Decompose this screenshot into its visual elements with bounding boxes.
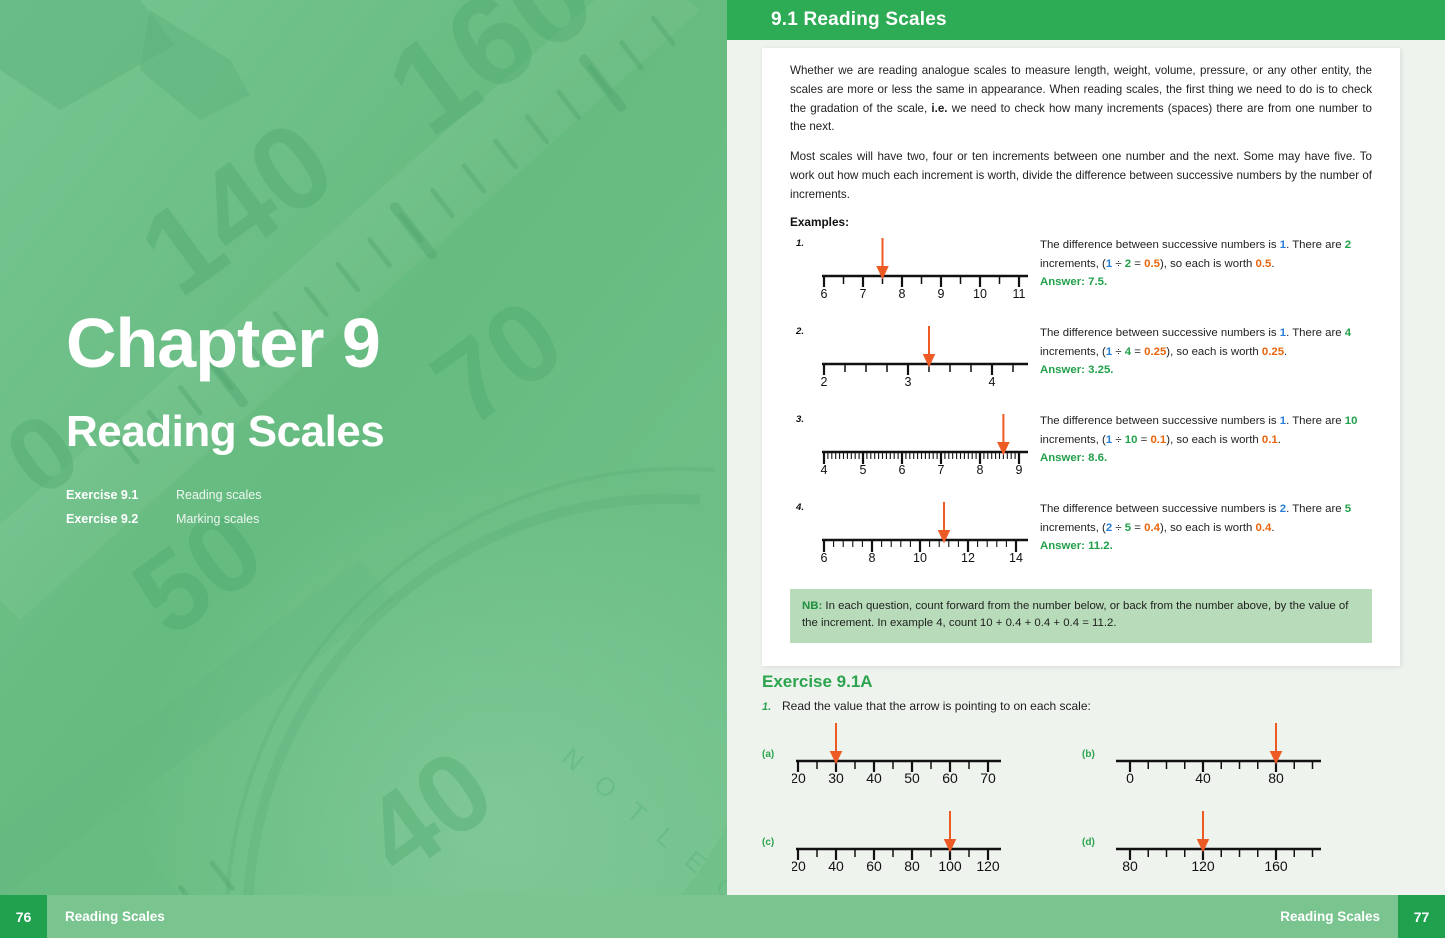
svg-text:80: 80 (904, 858, 920, 871)
page-title: Chapter 9 (66, 308, 380, 378)
svg-text:12: 12 (961, 551, 975, 562)
svg-text:7: 7 (860, 287, 867, 298)
svg-text:7: 7 (938, 463, 945, 474)
svg-text:5: 5 (860, 463, 867, 474)
ex4-eq-div: ÷ (1112, 522, 1125, 534)
cover-text-block: Chapter 9 Reading Scales Exercise 9.1 Re… (66, 0, 686, 938)
ex4-eq-equals: = (1131, 522, 1144, 534)
chapter-subtitle: Reading Scales (66, 410, 384, 454)
exercise-description: Reading scales (176, 486, 261, 505)
example-number: 2. (796, 326, 804, 337)
example-1: 1. (790, 236, 1372, 324)
exercise-section: Exercise 9.1A 1. Read the value that the… (762, 672, 1412, 881)
example-1-scale-diagram: 67 89 1011 (818, 236, 1032, 303)
footer-left-title: Reading Scales (65, 909, 165, 924)
svg-text:120: 120 (976, 858, 1000, 871)
ex2-text-1: The difference between successive number… (1040, 327, 1280, 339)
svg-text:11: 11 (1013, 287, 1026, 298)
list-item: Exercise 9.1 Reading scales (66, 486, 486, 505)
list-item: Exercise 9.2 Marking scales (66, 510, 486, 529)
chapter-exercise-list: Exercise 9.1 Reading scales Exercise 9.2… (66, 486, 486, 534)
example-4: 4. 68 1012 14 (790, 500, 1372, 588)
example-2: 2. (790, 324, 1372, 412)
example-number: 1. (796, 238, 804, 249)
svg-text:20: 20 (792, 858, 806, 871)
ex3-text-4: ), so each is worth (1166, 434, 1262, 446)
intro-paragraph-2: Most scales will have two, four or ten i… (790, 148, 1372, 204)
footer-right: Reading Scales 77 (727, 895, 1445, 938)
exercise-description: Marking scales (176, 510, 259, 529)
ex3-eq-div: ÷ (1112, 434, 1125, 446)
ex1-text-1: The difference between successive number… (1040, 239, 1280, 251)
ex4-text-3: increments, ( (1040, 522, 1106, 534)
exercise-question-1: 1. Read the value that the arrow is poin… (762, 699, 1412, 713)
ex3-eq-equals: = (1137, 434, 1150, 446)
ex3-text-2: . There are (1286, 415, 1345, 427)
ex2-text-4: ), so each is worth (1166, 346, 1262, 358)
ex2-increments: 4 (1345, 327, 1351, 339)
book-spread: 160 140 70 50 40 0 N O T L E G (0, 0, 1445, 938)
examples-label: Examples: (790, 215, 1372, 229)
svg-text:14: 14 (1009, 551, 1023, 562)
question-number: 1. (762, 701, 782, 713)
example-2-scale-diagram: 234 (818, 324, 1032, 391)
exercise-item-a-label: (a) (762, 749, 774, 760)
ex4-text-5: . (1271, 522, 1274, 534)
ex4-text-2: . There are (1286, 503, 1345, 515)
svg-text:4: 4 (821, 463, 828, 474)
ex3-worth: 0.1 (1262, 434, 1278, 446)
nb-label: NB: (802, 600, 822, 612)
chapter-cover-page: 160 140 70 50 40 0 N O T L E G (0, 0, 727, 938)
exercise-code: Exercise 9.2 (66, 510, 176, 529)
example-2-explanation: The difference between successive number… (1040, 324, 1406, 379)
ex1-text-4: ), so each is worth (1160, 258, 1256, 270)
ex1-eq-div: ÷ (1112, 258, 1125, 270)
note-box: NB: In each question, count forward from… (790, 589, 1372, 643)
exercise-d-scale-diagram: 80120160 (1112, 809, 1327, 876)
ex2-answer: Answer: 3.25. (1040, 361, 1406, 379)
intro-paragraph-1: Whether we are reading analogue scales t… (790, 62, 1372, 137)
ex2-text-3: increments, ( (1040, 346, 1106, 358)
footer-right-title: Reading Scales (1280, 909, 1380, 924)
exercise-scale-grid: (a) (762, 721, 1412, 881)
question-text: Read the value that the arrow is pointin… (782, 699, 1091, 713)
ex2-text-5: . (1284, 346, 1287, 358)
example-3-explanation: The difference between successive number… (1040, 412, 1406, 467)
svg-text:10: 10 (973, 287, 987, 298)
ex2-text-2: . There are (1286, 327, 1345, 339)
example-number: 3. (796, 414, 804, 425)
ex1-eq-result: 0.5 (1144, 258, 1160, 270)
example-4-explanation: The difference between successive number… (1040, 500, 1406, 555)
svg-text:80: 80 (1122, 858, 1138, 871)
svg-text:40: 40 (866, 770, 882, 783)
ex4-text-1: The difference between successive number… (1040, 503, 1280, 515)
svg-text:30: 30 (828, 770, 844, 783)
ex4-eq-result: 0.4 (1144, 522, 1160, 534)
ex3-eq-b: 10 (1125, 434, 1138, 446)
lesson-content-card: Whether we are reading analogue scales t… (762, 48, 1400, 666)
ex1-eq-equals: = (1131, 258, 1144, 270)
ex1-worth: 0.5 (1256, 258, 1272, 270)
svg-text:80: 80 (1268, 770, 1284, 783)
ex3-answer: Answer: 8.6. (1040, 449, 1406, 467)
svg-text:2: 2 (821, 375, 828, 386)
ex1-text-2: . There are (1286, 239, 1345, 251)
ex2-eq-div: ÷ (1112, 346, 1125, 358)
ex3-increments: 10 (1345, 415, 1358, 427)
svg-text:60: 60 (942, 770, 958, 783)
ex3-text-5: . (1278, 434, 1281, 446)
svg-text:8: 8 (899, 287, 906, 298)
svg-text:9: 9 (938, 287, 945, 298)
svg-text:50: 50 (904, 770, 920, 783)
ex1-text-5: . (1271, 258, 1274, 270)
footer-left: 76 Reading Scales (0, 895, 727, 938)
ex4-answer: Answer: 11.2. (1040, 537, 1406, 555)
ex1-answer: Answer: 7.5. (1040, 273, 1406, 291)
svg-text:0: 0 (1126, 770, 1134, 783)
ex2-eq-result: 0.25 (1144, 346, 1166, 358)
svg-text:10: 10 (913, 551, 927, 562)
exercise-b-scale-diagram: 04080 (1112, 721, 1327, 788)
example-3-scale-diagram: 45 67 89 (818, 412, 1032, 479)
ex3-text-3: increments, ( (1040, 434, 1106, 446)
ex3-eq-result: 0.1 (1150, 434, 1166, 446)
page-number-left: 76 (0, 895, 47, 938)
ex2-eq-equals: = (1131, 346, 1144, 358)
svg-text:40: 40 (1195, 770, 1211, 783)
svg-text:60: 60 (866, 858, 882, 871)
svg-text:3: 3 (905, 375, 912, 386)
nb-text: In each question, count forward from the… (802, 600, 1348, 630)
exercise-code: Exercise 9.1 (66, 486, 176, 505)
svg-text:6: 6 (899, 463, 906, 474)
example-3: 3. 45 67 89 (790, 412, 1372, 500)
ex3-text-1: The difference between successive number… (1040, 415, 1280, 427)
svg-text:40: 40 (828, 858, 844, 871)
exercise-c-scale-diagram: 2040 6080 100120 (792, 809, 1007, 876)
ex4-worth: 0.4 (1256, 522, 1272, 534)
lesson-page: 9.1 Reading Scales Whether we are readin… (727, 0, 1445, 938)
svg-text:20: 20 (792, 770, 806, 783)
svg-text:6: 6 (821, 287, 828, 298)
svg-text:160: 160 (1264, 858, 1288, 871)
section-title: 9.1 Reading Scales (771, 9, 947, 31)
svg-text:70: 70 (980, 770, 996, 783)
page-number-right: 77 (1398, 895, 1445, 938)
ex1-text-3: increments, ( (1040, 258, 1106, 270)
example-4-scale-diagram: 68 1012 14 (818, 500, 1032, 567)
svg-text:8: 8 (869, 551, 876, 562)
example-number: 4. (796, 502, 804, 513)
svg-text:9: 9 (1016, 463, 1023, 474)
exercise-item-d-label: (d) (1082, 837, 1095, 848)
ex1-increments: 2 (1345, 239, 1351, 251)
intro-ie-emphasis: i.e. (931, 102, 947, 115)
exercise-a-scale-diagram: 2030 4050 6070 (792, 721, 1007, 788)
ex2-worth: 0.25 (1262, 346, 1284, 358)
svg-text:120: 120 (1191, 858, 1215, 871)
svg-text:6: 6 (821, 551, 828, 562)
svg-text:4: 4 (989, 375, 996, 386)
svg-text:8: 8 (977, 463, 984, 474)
exercise-item-b-label: (b) (1082, 749, 1095, 760)
exercise-heading: Exercise 9.1A (762, 672, 1412, 692)
example-1-explanation: The difference between successive number… (1040, 236, 1406, 291)
section-header-bar: 9.1 Reading Scales (727, 0, 1445, 40)
exercise-item-c-label: (c) (762, 837, 774, 848)
ex4-increments: 5 (1345, 503, 1351, 515)
ex4-text-4: ), so each is worth (1160, 522, 1256, 534)
svg-text:100: 100 (938, 858, 962, 871)
